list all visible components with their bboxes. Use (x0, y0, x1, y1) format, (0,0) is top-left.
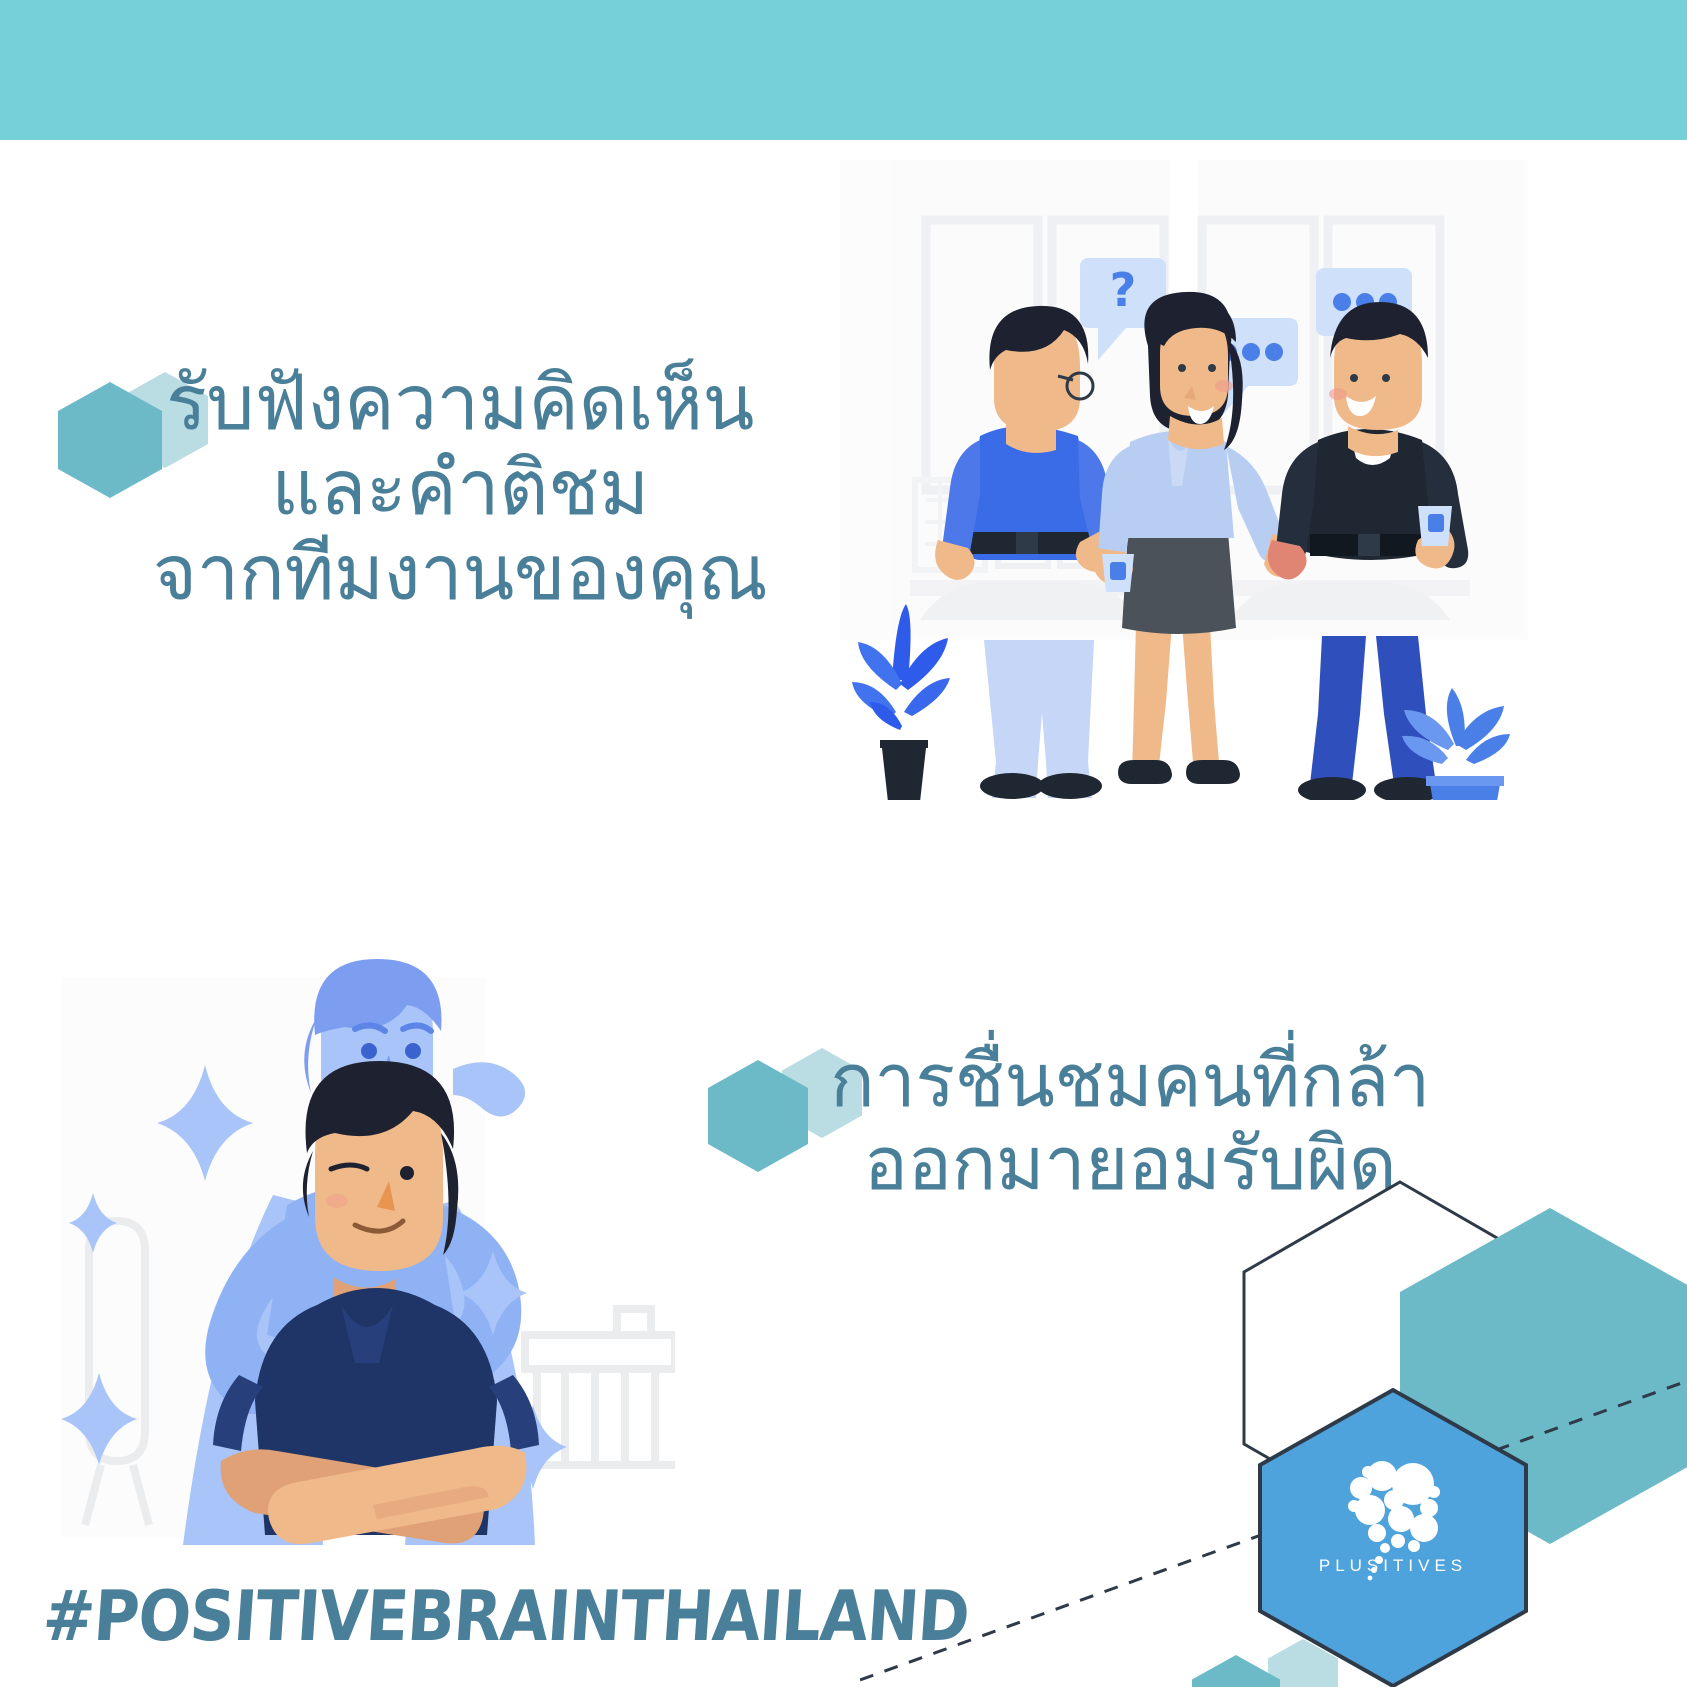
svg-text:?: ? (1110, 263, 1137, 317)
top-teal-banner (0, 0, 1687, 140)
hashtag-text: #POSITIVEBRAINTHAILAND (40, 1575, 971, 1657)
poster-canvas: ? (0, 0, 1687, 1687)
headline-primary: รับฟังความคิดเห็น และคำติชม จากทีมงานของ… (90, 360, 830, 615)
illustration-three-coworkers: ? (830, 150, 1540, 800)
illustration-superhero-alter-ego (55, 905, 675, 1545)
logo-wordmark: PLUSITIVES (1258, 1556, 1528, 1576)
headline-primary-line-1: รับฟังความคิดเห็น (90, 360, 830, 445)
headline-primary-line-2: และคำติชม (90, 445, 830, 530)
logo-plusitives[interactable]: PLUSITIVES (1258, 1388, 1528, 1687)
headline-primary-line-3: จากทีมงานของคุณ (90, 530, 830, 615)
headline-secondary-line-1: การชื่นชมคนที่กล้า (760, 1040, 1500, 1123)
